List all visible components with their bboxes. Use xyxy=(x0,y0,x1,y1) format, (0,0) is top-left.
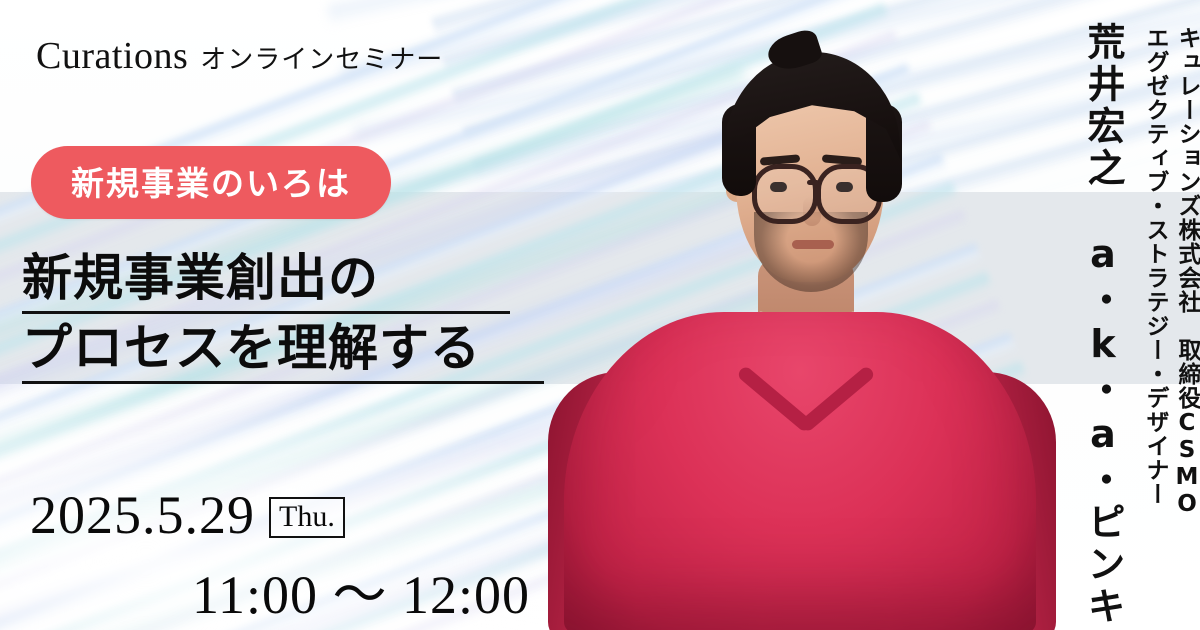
seminar-banner: Curationsオンラインセミナー 新規事業のいろは 新規事業創出の プロセス… xyxy=(0,0,1200,630)
series-badge: 新規事業のいろは xyxy=(31,146,391,219)
event-day-of-week: Thu. xyxy=(269,497,345,538)
speaker-portrait xyxy=(520,0,1080,630)
portrait-mouth xyxy=(792,240,834,249)
portrait-glasses-bridge xyxy=(807,180,819,185)
title-line-1: 新規事業創出の xyxy=(22,252,510,314)
brand-name-jp: オンラインセミナー xyxy=(200,45,443,75)
page-title: 新規事業創出の プロセスを理解する xyxy=(22,252,544,384)
portrait-sweater xyxy=(564,312,1036,630)
speaker-role: エグゼクティブ・ストラテジー・デザイナー xyxy=(1143,26,1166,456)
schedule-block: 2025.5.29 Thu. 11:00 〜 12:00 xyxy=(30,484,530,629)
portrait-glasses-lens-left xyxy=(752,164,818,224)
speaker-company: キュレーションズ株式会社 取締役CSMO xyxy=(1175,26,1198,456)
event-date: 2025.5.29 xyxy=(30,484,255,546)
title-line-2: プロセスを理解する xyxy=(22,314,544,384)
date-row: 2025.5.29 Thu. xyxy=(30,484,530,546)
brand-name-en: Curations xyxy=(36,35,188,77)
brand-lockup: Curationsオンラインセミナー xyxy=(36,34,443,78)
speaker-name: 荒井宏之 a・k・a・ピンキー xyxy=(1084,22,1122,492)
event-time: 11:00 〜 12:00 xyxy=(30,550,530,629)
